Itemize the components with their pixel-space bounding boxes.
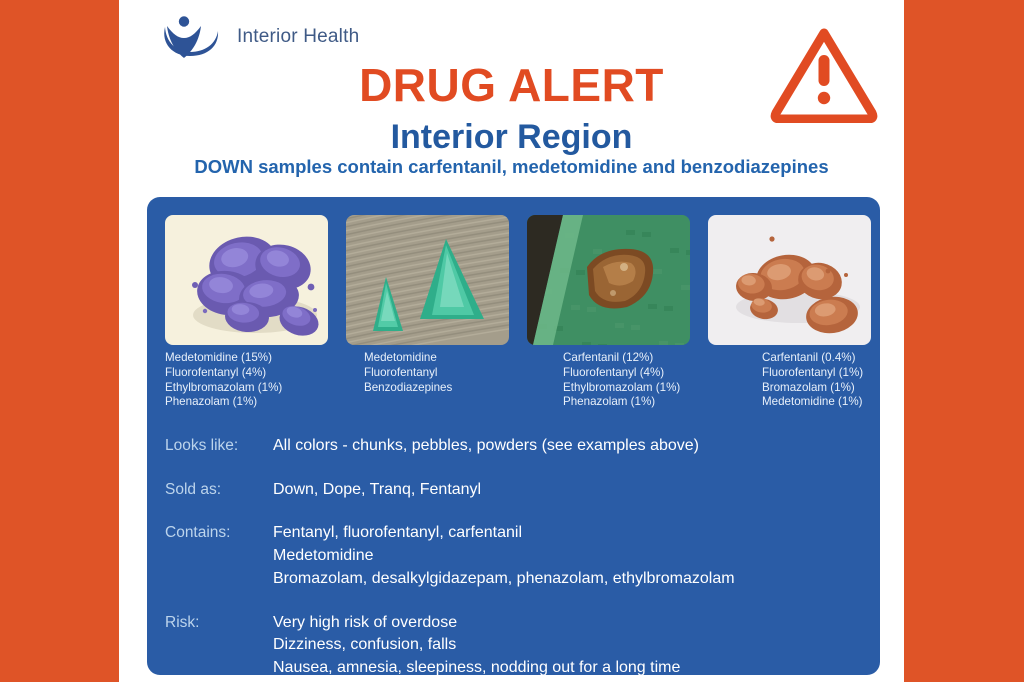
page-tagline: DOWN samples contain carfentanil, medeto…	[119, 158, 904, 177]
poster-header: Interior Health DRUG ALERT Interior Regi…	[119, 0, 904, 197]
substance-line: Ethylbromazolam (1%)	[165, 381, 346, 396]
substance-line: Phenazolam (1%)	[563, 395, 744, 410]
logo-wordmark: Interior Health	[237, 26, 359, 48]
sample-photo-purple-chunks	[165, 215, 328, 345]
detail-label: Contains:	[165, 522, 273, 590]
substance-line: Fluorofentanyl (4%)	[165, 366, 346, 381]
sample-caption-row: Medetomidine (15%)Fluorofentanyl (4%)Eth…	[165, 351, 870, 410]
detail-list: Looks like:All colors - chunks, pebbles,…	[165, 435, 872, 675]
detail-label: Sold as:	[165, 479, 273, 502]
detail-value-line: Medetomidine	[273, 545, 735, 568]
detail-values: Down, Dope, Tranq, Fentanyl	[273, 479, 481, 502]
poster-canvas: Interior Health DRUG ALERT Interior Regi…	[0, 0, 1024, 682]
detail-label: Looks like:	[165, 435, 273, 458]
sample-caption: MedetomidineFluorofentanylBenzodiazepine…	[364, 351, 545, 410]
detail-row: Contains:Fentanyl, fluorofentanyl, carfe…	[165, 522, 872, 590]
detail-row: Looks like:All colors - chunks, pebbles,…	[165, 435, 872, 458]
substance-line: Medetomidine (15%)	[165, 351, 346, 366]
detail-values: All colors - chunks, pebbles, powders (s…	[273, 435, 699, 458]
detail-values: Fentanyl, fluorofentanyl, carfentanilMed…	[273, 522, 735, 590]
sample-photo-orange-chunks	[708, 215, 871, 345]
substance-line: Carfentanil (12%)	[563, 351, 744, 366]
detail-value-line: Down, Dope, Tranq, Fentanyl	[273, 479, 481, 502]
detail-value-line: Nausea, amnesia, sleepiness, nodding out…	[273, 657, 680, 675]
detail-value-line: Dizziness, confusion, falls	[273, 634, 680, 657]
sample-photo-brown-chunk	[527, 215, 690, 345]
page-subtitle: Interior Region	[119, 120, 904, 154]
substance-line: Fluorofentanyl (4%)	[563, 366, 744, 381]
poster-page: Interior Health DRUG ALERT Interior Regi…	[119, 0, 904, 682]
sample-caption: Carfentanil (12%)Fluorofentanyl (4%)Ethy…	[563, 351, 744, 410]
substance-line: Fluorofentanyl (1%)	[762, 366, 880, 381]
substance-line: Bromazolam (1%)	[762, 381, 880, 396]
sample-caption: Medetomidine (15%)Fluorofentanyl (4%)Eth…	[165, 351, 346, 410]
detail-label: Risk:	[165, 612, 273, 675]
sample-photo-green-chunks	[346, 215, 509, 345]
detail-value-line: Bromazolam, desalkylgidazepam, phenazola…	[273, 568, 735, 591]
detail-row: Risk:Very high risk of overdoseDizziness…	[165, 612, 872, 675]
alert-panel: Medetomidine (15%)Fluorofentanyl (4%)Eth…	[147, 197, 880, 675]
interior-health-logo: Interior Health	[159, 14, 359, 60]
detail-value-line: All colors - chunks, pebbles, powders (s…	[273, 435, 699, 458]
detail-value-line: Fentanyl, fluorofentanyl, carfentanil	[273, 522, 735, 545]
detail-value-line: Very high risk of overdose	[273, 612, 680, 635]
interior-health-logo-icon	[159, 14, 225, 60]
substance-line: Carfentanil (0.4%)	[762, 351, 880, 366]
sample-caption: Carfentanil (0.4%)Fluorofentanyl (1%)Bro…	[762, 351, 880, 410]
substance-line: Fluorofentanyl	[364, 366, 545, 381]
substance-line: Medetomidine	[364, 351, 545, 366]
substance-line: Phenazolam (1%)	[165, 395, 346, 410]
substance-line: Benzodiazepines	[364, 381, 545, 396]
page-title: DRUG ALERT	[119, 62, 904, 108]
substance-line: Medetomidine (1%)	[762, 395, 880, 410]
detail-values: Very high risk of overdoseDizziness, con…	[273, 612, 680, 675]
detail-row: Sold as:Down, Dope, Tranq, Fentanyl	[165, 479, 872, 502]
sample-photo-row	[165, 215, 862, 345]
substance-line: Ethylbromazolam (1%)	[563, 381, 744, 396]
